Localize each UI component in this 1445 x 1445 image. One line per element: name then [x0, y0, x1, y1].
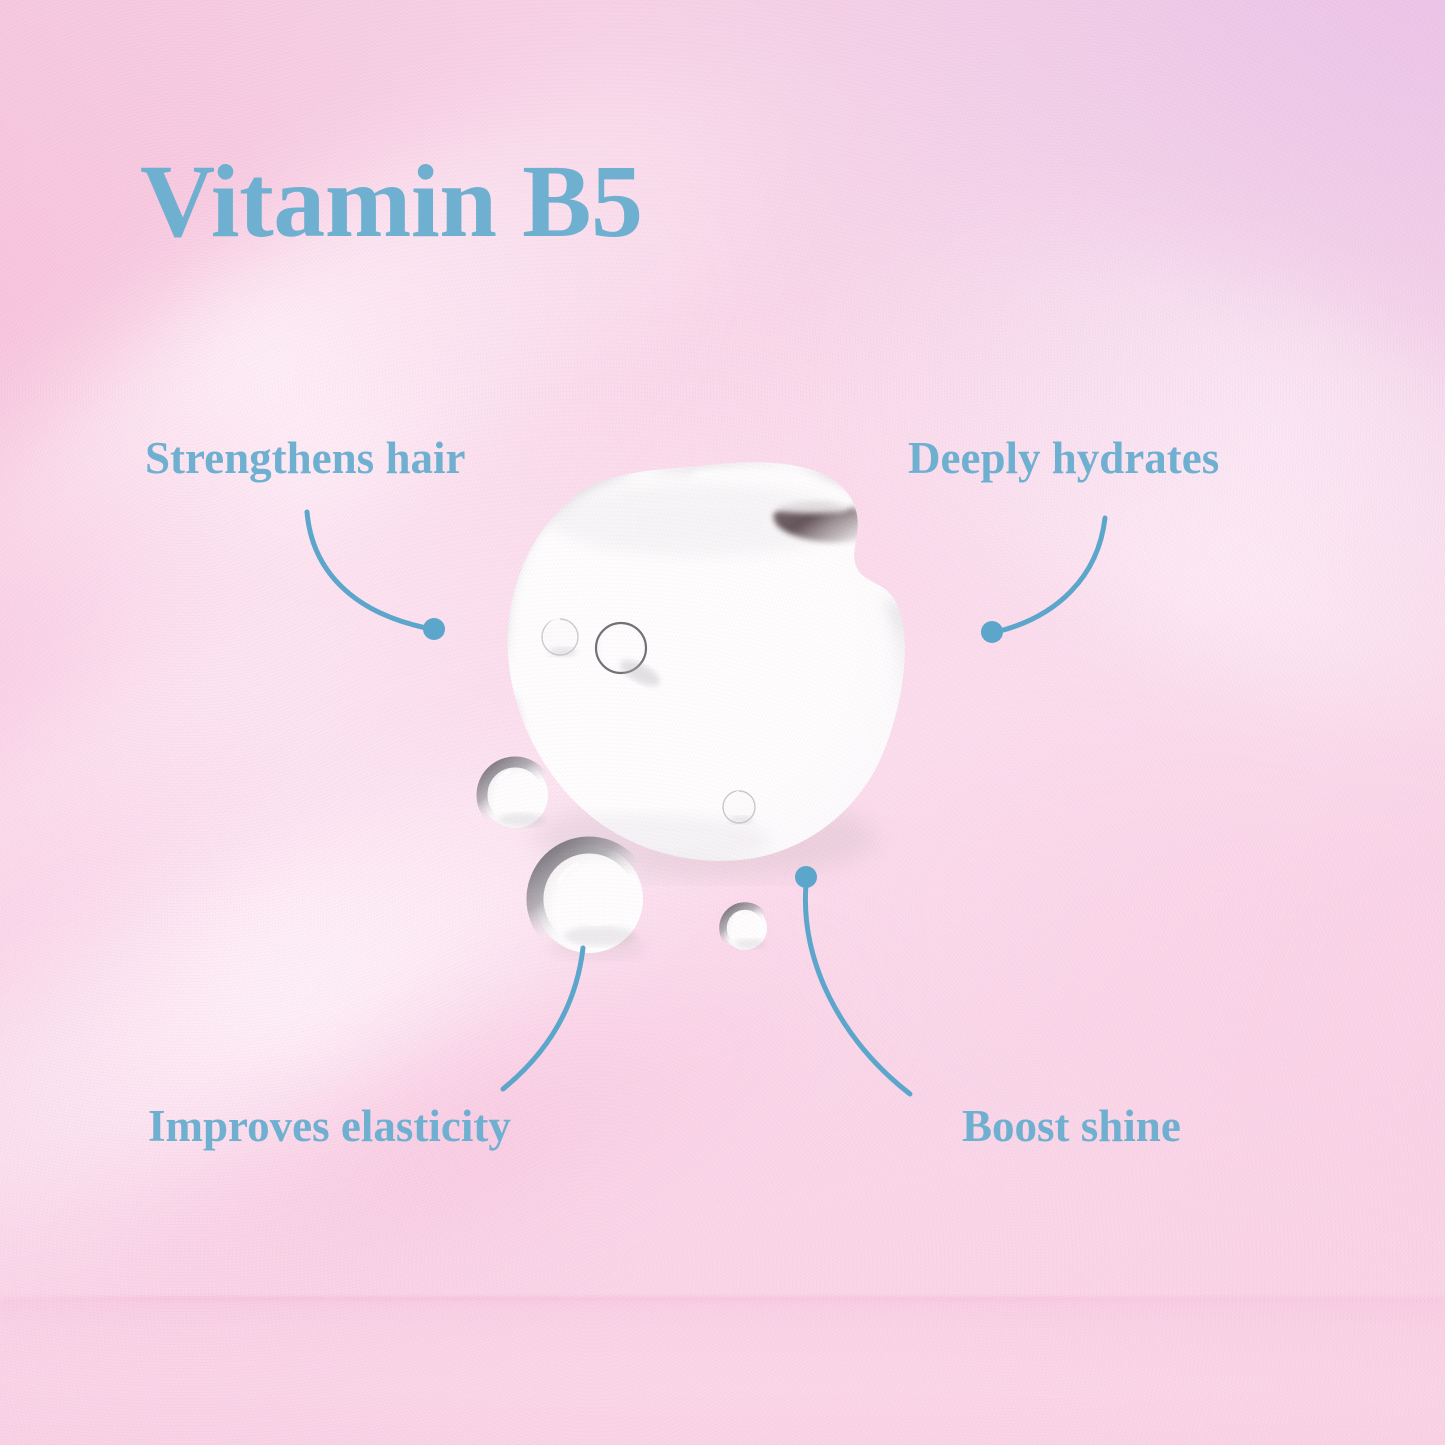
- feature-label-strengthens-hair: Strengthens hair: [145, 436, 465, 481]
- poster-canvas: Vitamin B5 Strengthens hair Deeply hydra…: [0, 0, 1445, 1445]
- feature-label-boost-shine: Boost shine: [962, 1104, 1181, 1149]
- page-title: Vitamin B5: [140, 150, 643, 254]
- feature-label-deeply-hydrates: Deeply hydrates: [908, 436, 1219, 481]
- feature-label-improves-elasticity: Improves elasticity: [148, 1104, 511, 1149]
